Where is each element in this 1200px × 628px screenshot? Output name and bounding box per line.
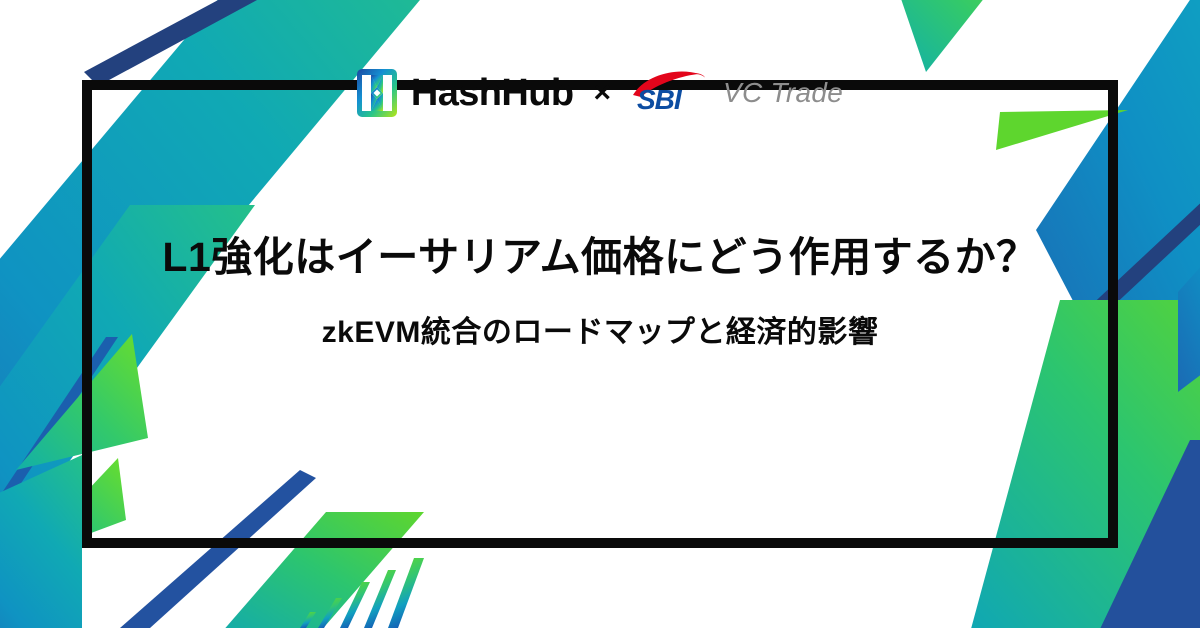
page-title: L1強化はイーサリアム価格にどう作用するか？ (0, 232, 1200, 283)
poster-canvas: HashHub × SBI VC Trade L1強化はイーサリアム価格にどう作… (0, 0, 1200, 628)
brand-lockup-row: HashHub × SBI VC Trade (0, 62, 1200, 124)
page-subtitle: zkEVM統合のロードマップと経済的影響 (0, 313, 1200, 352)
sbi-swoosh-icon: SBI (631, 71, 713, 115)
partner-separator: × (593, 78, 611, 108)
sbi-vc-trade-lockup: SBI VC Trade (631, 71, 843, 115)
title-block: L1強化はイーサリアム価格にどう作用するか？ zkEVM統合のロードマップと経済… (0, 232, 1200, 352)
hashhub-mark-icon (357, 69, 397, 117)
hashhub-wordmark: HashHub (411, 74, 574, 112)
sbi-service-name: VC Trade (723, 79, 843, 107)
ascending-bar-chart-icon (292, 556, 432, 628)
svg-text:SBI: SBI (637, 84, 683, 115)
